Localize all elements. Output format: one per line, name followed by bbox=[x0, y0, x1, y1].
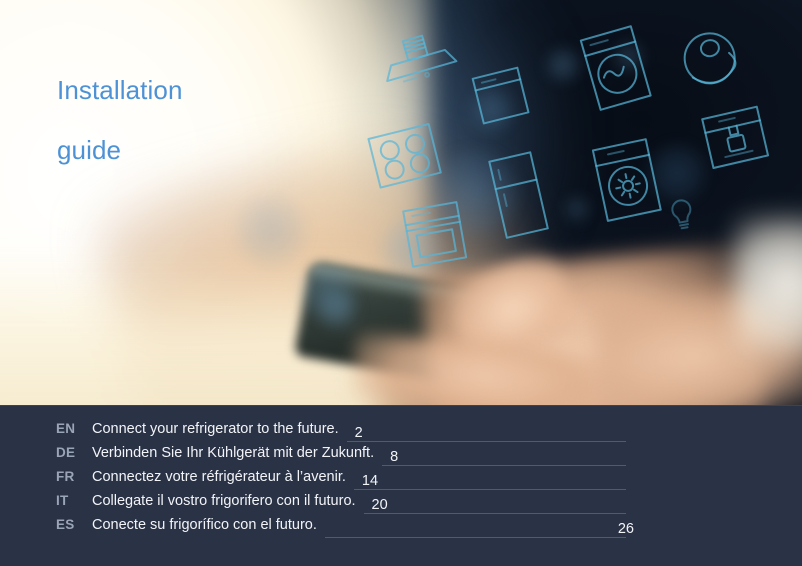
language-title: Connectez votre réfrigérateur à l’avenir… bbox=[86, 469, 346, 485]
language-code: EN bbox=[56, 421, 86, 436]
language-leader-rule: 8 bbox=[382, 445, 626, 469]
language-title: Verbinden Sie Ihr Kühlgerät mit der Zuku… bbox=[86, 445, 374, 461]
leader-line bbox=[325, 537, 626, 538]
bokeh-orb bbox=[614, 42, 644, 72]
page-title: Installation guide bbox=[57, 45, 183, 165]
language-leader-rule: 14 bbox=[354, 469, 626, 493]
page-title-line1: Installation bbox=[57, 75, 183, 105]
hero-corner-highlight bbox=[735, 215, 802, 355]
leader-line bbox=[364, 513, 626, 514]
language-title: Collegate il vostro frigorifero con il f… bbox=[86, 493, 356, 509]
bokeh-orb bbox=[564, 196, 590, 222]
language-page-number: 8 bbox=[388, 449, 405, 465]
language-code: FR bbox=[56, 469, 86, 484]
bokeh-orb bbox=[380, 218, 442, 280]
language-title: Conecte su frigorífico con el futuro. bbox=[86, 517, 317, 533]
bokeh-orb bbox=[432, 150, 518, 236]
installation-guide-cover: Installation guide ENConnect your refrig… bbox=[0, 0, 802, 566]
language-code: ES bbox=[56, 517, 86, 532]
bokeh-orb bbox=[236, 196, 306, 266]
hero-photo: Installation guide bbox=[0, 0, 802, 405]
bokeh-orb bbox=[318, 290, 358, 330]
language-row[interactable]: DEVerbinden Sie Ihr Kühlgerät mit der Zu… bbox=[56, 445, 626, 469]
language-footer: ENConnect your refrigerator to the futur… bbox=[0, 405, 802, 566]
language-leader-rule: 20 bbox=[364, 493, 626, 517]
page-title-line2: guide bbox=[57, 135, 121, 165]
bokeh-orb bbox=[470, 88, 514, 132]
language-page-number: 14 bbox=[360, 473, 385, 489]
leader-line bbox=[354, 489, 626, 490]
language-row[interactable]: ENConnect your refrigerator to the futur… bbox=[56, 421, 626, 445]
language-page-number: 26 bbox=[610, 521, 634, 537]
language-row[interactable]: ESConecte su frigorífico con el futuro.2… bbox=[56, 517, 626, 541]
language-row[interactable]: ITCollegate il vostro frigorifero con il… bbox=[56, 493, 626, 517]
language-title: Connect your refrigerator to the future. bbox=[86, 421, 339, 437]
language-row[interactable]: FRConnectez votre réfrigérateur à l’aven… bbox=[56, 469, 626, 493]
language-page-number: 20 bbox=[370, 497, 395, 513]
language-list: ENConnect your refrigerator to the futur… bbox=[56, 421, 626, 541]
language-page-number: 2 bbox=[353, 425, 370, 441]
language-leader-rule: 2 bbox=[347, 421, 626, 445]
language-code: DE bbox=[56, 445, 86, 460]
language-code: IT bbox=[56, 493, 86, 508]
language-leader-rule: 26 bbox=[325, 517, 626, 541]
leader-line bbox=[347, 441, 626, 442]
leader-line bbox=[382, 465, 626, 466]
bokeh-orb bbox=[648, 144, 706, 202]
bokeh-orb bbox=[546, 48, 580, 82]
